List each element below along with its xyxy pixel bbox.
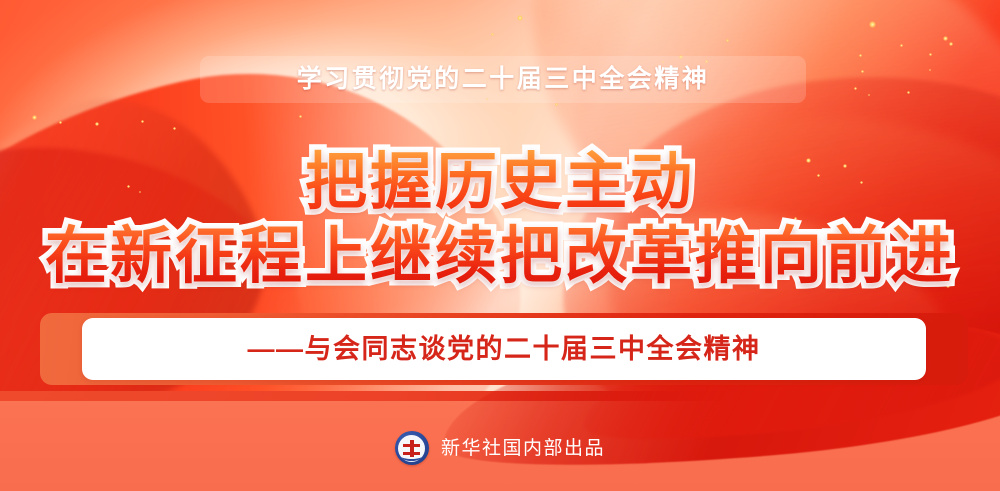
footer-credit-label: 新华社国内部出品	[441, 439, 605, 458]
topic-banner-label: 学习贯彻党的二十届三中全会精神	[297, 67, 710, 92]
logo-disc	[398, 435, 425, 462]
xinhua-agency-logo-icon	[395, 431, 429, 465]
subtitle-bar: ——与会同志谈党的二十届三中全会精神	[82, 318, 926, 380]
subtitle-label: ——与会同志谈党的二十届三中全会精神	[248, 336, 761, 363]
poster-canvas: 学习贯彻党的二十届三中全会精神 把握历史主动 把握历史主动 在新征程上继续把改革…	[0, 0, 1000, 491]
logo-arc	[400, 450, 423, 461]
topic-banner: 学习贯彻党的二十届三中全会精神	[200, 56, 806, 103]
footer-credit: 新华社国内部出品	[0, 431, 1000, 465]
